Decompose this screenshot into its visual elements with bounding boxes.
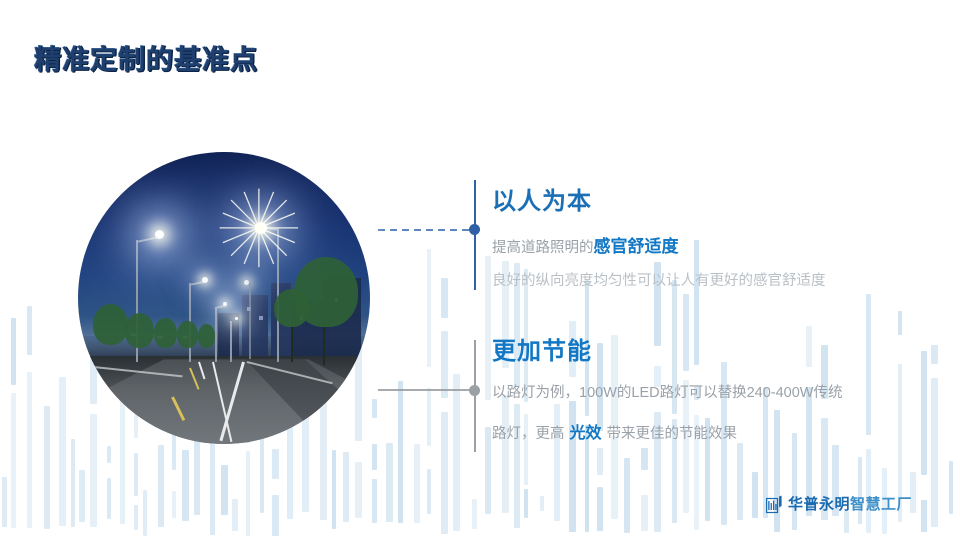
decorative-bar bbox=[949, 461, 953, 514]
decorative-bar bbox=[134, 505, 138, 530]
decorative-bar bbox=[611, 436, 618, 519]
text-block-human-centered: 以人为本 提高道路照明的感官舒适度 良好的纵向亮度均匀性可以让人有更好的感官舒适… bbox=[492, 190, 826, 289]
decorative-bar bbox=[427, 469, 431, 514]
decorative-bar bbox=[134, 453, 138, 496]
brand-name-sub: 智慧工厂 bbox=[850, 496, 912, 513]
tree-icon bbox=[274, 289, 309, 327]
block-line-2b-post: 带来更佳的节能效果 bbox=[607, 426, 738, 442]
decorative-bar bbox=[485, 256, 491, 400]
decorative-bar bbox=[921, 500, 927, 532]
decorative-bar bbox=[931, 378, 938, 527]
decorative-bar bbox=[792, 433, 797, 530]
connector-dashed-line-1 bbox=[378, 228, 474, 232]
huapu-yongming-logo-mark bbox=[766, 495, 783, 514]
tree-icon bbox=[177, 321, 197, 347]
slide-root: 精准定制的基准点 bbox=[0, 0, 960, 540]
decorative-bar bbox=[27, 306, 32, 355]
night-road-led-streetlights bbox=[78, 152, 370, 444]
decorative-bar bbox=[11, 393, 16, 528]
decorative-bar bbox=[453, 374, 460, 531]
brand-logo: 华普永明智慧工厂 bbox=[766, 493, 912, 514]
decorative-bar bbox=[332, 450, 336, 529]
decorative-bar bbox=[143, 490, 147, 536]
decorative-bar bbox=[59, 377, 66, 526]
block-line-2b: 路灯，更高光效带来更佳的节能效果 bbox=[492, 419, 842, 443]
decorative-bar bbox=[641, 448, 648, 470]
block-line-1a-accent: 感官舒适度 bbox=[594, 237, 679, 256]
text-block-energy-saving: 更加节能 以路灯为例，100W的LED路灯可以替换240-400W传统 路灯，更… bbox=[492, 340, 842, 443]
decorative-bar bbox=[398, 381, 403, 523]
decorative-bar bbox=[172, 491, 176, 518]
decorative-bar bbox=[866, 449, 871, 533]
decorative-bar bbox=[79, 470, 85, 522]
block-marker-dot-1 bbox=[469, 224, 480, 235]
decorative-bar bbox=[737, 443, 743, 520]
block-line-2b-accent: 光效 bbox=[565, 425, 607, 442]
block-line-1b: 良好的纵向亮度均匀性可以让人有更好的感官舒适度 bbox=[492, 274, 826, 289]
lamp-pole bbox=[249, 283, 251, 359]
block-line-1a-plain: 提高道路照明的 bbox=[492, 240, 594, 256]
tree-icon bbox=[198, 324, 216, 347]
decorative-bar bbox=[27, 372, 32, 528]
tree-icon bbox=[93, 304, 128, 345]
decorative-bar bbox=[540, 496, 544, 511]
brand-name: 华普永明智慧工厂 bbox=[788, 493, 912, 514]
tree-trunk bbox=[291, 321, 293, 362]
lamp-pole bbox=[230, 321, 232, 362]
decorative-bar bbox=[11, 318, 16, 385]
street-lamp-light-main bbox=[255, 222, 267, 234]
decorative-bar bbox=[752, 472, 758, 518]
city-light bbox=[259, 316, 263, 320]
tree-icon bbox=[154, 318, 177, 347]
decorative-bar bbox=[931, 345, 938, 364]
decorative-bar bbox=[71, 439, 75, 527]
decorative-bar bbox=[427, 249, 431, 367]
street-lamp-light bbox=[202, 277, 208, 283]
block-heading-1: 以人为本 bbox=[492, 190, 826, 214]
decorative-bar bbox=[343, 452, 349, 522]
lamp-pole bbox=[215, 307, 217, 362]
street-lamp-light bbox=[235, 317, 238, 320]
decorative-bar bbox=[866, 294, 871, 435]
decorative-bar bbox=[107, 478, 111, 519]
decorative-bar bbox=[272, 449, 279, 479]
decorative-bar bbox=[641, 495, 648, 531]
connector-solid-line-2 bbox=[378, 388, 474, 392]
decorative-bar bbox=[441, 412, 448, 534]
decorative-bar bbox=[441, 278, 448, 318]
tree-icon bbox=[125, 313, 154, 348]
decorative-bar bbox=[2, 477, 7, 527]
block-marker-line-1 bbox=[474, 180, 476, 290]
photo-canvas bbox=[78, 152, 370, 444]
page-title: 精准定制的基准点 bbox=[34, 38, 258, 77]
decorative-bar bbox=[232, 499, 238, 531]
decorative-bar bbox=[597, 487, 603, 531]
decorative-bar bbox=[182, 450, 189, 521]
building-icon bbox=[242, 295, 268, 359]
block-heading-2: 更加节能 bbox=[492, 340, 842, 364]
decorative-bar bbox=[898, 311, 902, 335]
decorative-bar bbox=[844, 511, 849, 533]
decorative-bar bbox=[355, 462, 362, 518]
decorative-bar bbox=[44, 406, 50, 529]
brand-name-main: 华普永明 bbox=[788, 496, 850, 513]
decorative-bar bbox=[427, 388, 431, 446]
decorative-bar bbox=[524, 489, 528, 518]
block-marker-line-2 bbox=[474, 340, 476, 452]
decorative-bar bbox=[372, 479, 377, 523]
block-line-2a: 以路灯为例，100W的LED路灯可以替换240-400W传统 bbox=[492, 386, 842, 401]
decorative-bar bbox=[921, 351, 927, 475]
block-marker-dot-2 bbox=[469, 385, 480, 396]
decorative-bar bbox=[472, 499, 477, 529]
decorative-bar bbox=[372, 444, 377, 470]
decorative-bar bbox=[246, 451, 250, 536]
decorative-bar bbox=[221, 465, 228, 515]
block-line-2b-pre: 路灯，更高 bbox=[492, 426, 565, 442]
decorative-bar bbox=[386, 443, 393, 522]
decorative-bar bbox=[624, 458, 630, 533]
block-line-1a: 提高道路照明的感官舒适度 bbox=[492, 232, 826, 257]
decorative-bar bbox=[372, 399, 377, 418]
decorative-bar bbox=[158, 445, 164, 527]
decorative-bar bbox=[414, 444, 420, 523]
decorative-bar bbox=[272, 495, 279, 536]
decorative-bar bbox=[107, 446, 111, 463]
decorative-bar bbox=[597, 448, 603, 475]
decorative-bar bbox=[485, 427, 491, 514]
